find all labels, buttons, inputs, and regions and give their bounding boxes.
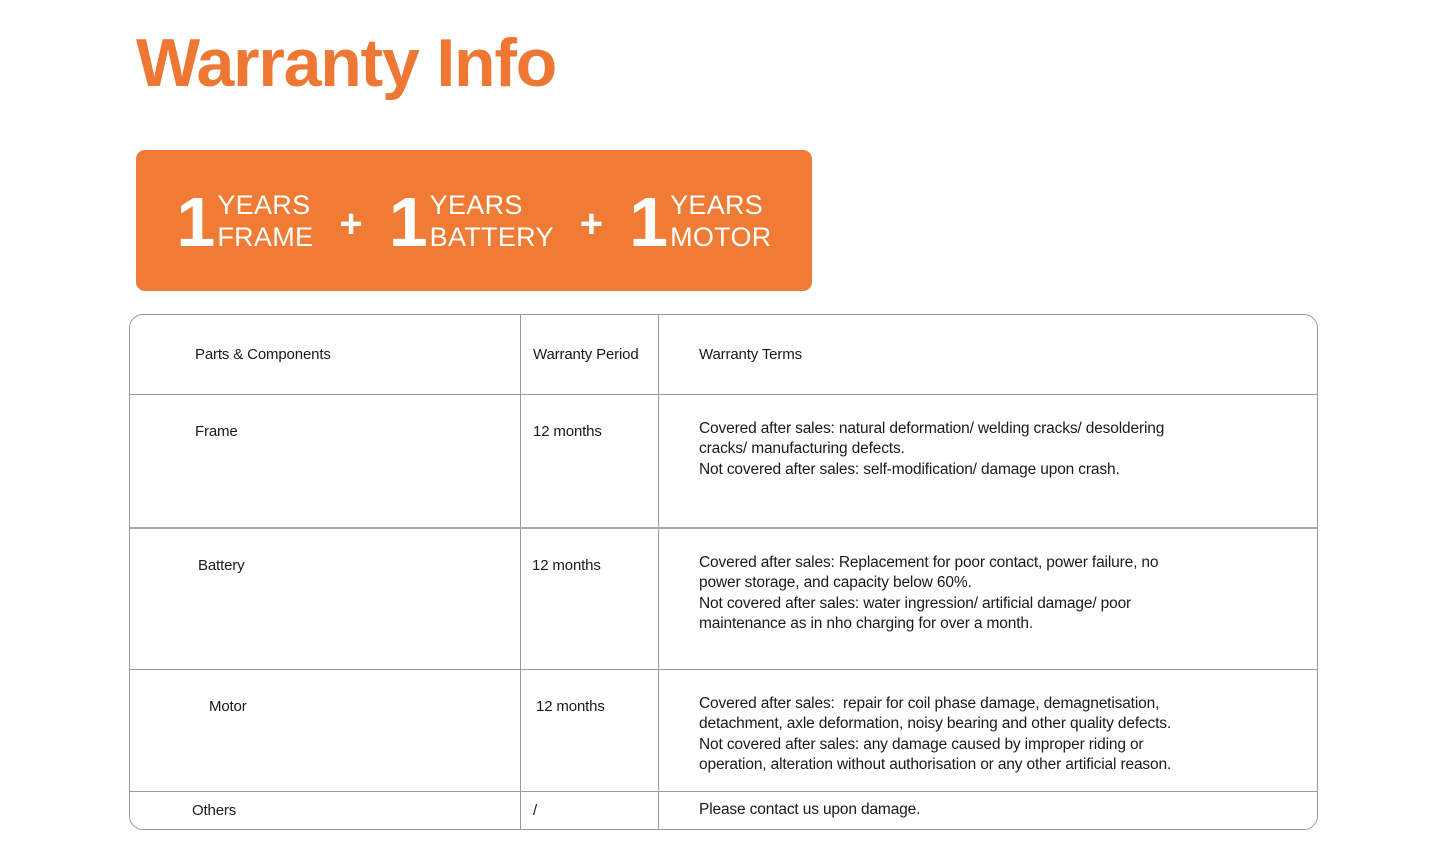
- banner-term-frame: 1 YEARS FRAME: [176, 190, 313, 254]
- banner-term-frame-number: 1: [176, 191, 213, 254]
- header-cell-parts: Parts & Components: [130, 315, 521, 394]
- header-label-parts: Parts & Components: [130, 344, 331, 366]
- terms-line: Covered after sales: natural deformation…: [699, 419, 1164, 439]
- terms-line: Not covered after sales: any damage caus…: [699, 735, 1171, 755]
- part-name-battery: Battery: [198, 529, 244, 669]
- banner-term-frame-unit: YEARS: [217, 190, 313, 222]
- header-cell-terms: Warranty Terms: [659, 315, 1317, 394]
- banner-term-motor-number: 1: [629, 191, 666, 254]
- period-value-battery: 12 months: [532, 529, 601, 669]
- cell-terms-others: Please contact us upon damage.: [659, 792, 1317, 829]
- banner-term-frame-part: FRAME: [217, 222, 313, 254]
- banner-term-battery-part: BATTERY: [430, 222, 554, 254]
- plus-icon-2: +: [580, 204, 603, 244]
- cell-period-frame: 12 months: [521, 395, 659, 527]
- cell-terms-motor: Covered after sales: repair for coil pha…: [659, 670, 1317, 791]
- terms-line: operation, alteration without authorisat…: [699, 755, 1171, 775]
- header-label-terms: Warranty Terms: [659, 344, 802, 366]
- period-value-motor: 12 months: [536, 670, 605, 791]
- terms-line: maintenance as in nho charging for over …: [699, 614, 1158, 634]
- terms-line: detachment, axle deformation, noisy bear…: [699, 714, 1171, 734]
- warranty-info-page: Warranty Info 1 YEARS FRAME + 1 YEARS BA…: [0, 0, 1445, 863]
- table-row-battery: Battery 12 months Covered after sales: R…: [130, 527, 1317, 669]
- banner-term-motor-words: YEARS MOTOR: [670, 190, 772, 254]
- banner-terms-group: 1 YEARS FRAME + 1 YEARS BATTERY + 1 YEAR…: [176, 190, 771, 254]
- table-header-row: Parts & Components Warranty Period Warra…: [130, 315, 1317, 394]
- terms-line: cracks/ manufacturing defects.: [699, 439, 1164, 459]
- warranty-table: Parts & Components Warranty Period Warra…: [129, 314, 1318, 830]
- header-label-period: Warranty Period: [521, 344, 639, 366]
- terms-text-motor: Covered after sales: repair for coil pha…: [699, 670, 1189, 791]
- banner-term-battery-words: YEARS BATTERY: [430, 190, 554, 254]
- banner-term-battery: 1 YEARS BATTERY: [389, 190, 554, 254]
- cell-part-battery: Battery: [130, 529, 521, 669]
- terms-line: power storage, and capacity below 60%.: [699, 573, 1158, 593]
- banner-term-frame-words: YEARS FRAME: [217, 190, 313, 254]
- page-title: Warranty Info: [136, 28, 556, 99]
- period-value-others: /: [533, 800, 537, 822]
- cell-terms-battery: Covered after sales: Replacement for poo…: [659, 529, 1317, 669]
- terms-line: Covered after sales: Replacement for poo…: [699, 553, 1158, 573]
- cell-terms-frame: Covered after sales: natural deformation…: [659, 395, 1317, 527]
- plus-icon-1: +: [339, 204, 362, 244]
- banner-term-motor-part: MOTOR: [670, 222, 772, 254]
- cell-part-others: Others: [130, 792, 521, 829]
- header-cell-period: Warranty Period: [521, 315, 659, 394]
- period-value-frame: 12 months: [533, 395, 602, 527]
- table-row-frame: Frame 12 months Covered after sales: nat…: [130, 394, 1317, 527]
- terms-line: Covered after sales: repair for coil pha…: [699, 694, 1171, 714]
- terms-text-frame: Covered after sales: natural deformation…: [699, 395, 1182, 527]
- banner-term-battery-number: 1: [389, 191, 426, 254]
- terms-text-others: Please contact us upon damage.: [699, 800, 938, 820]
- table-row-motor: Motor 12 months Covered after sales: rep…: [130, 669, 1317, 791]
- cell-period-others: /: [521, 792, 659, 829]
- warranty-summary-banner: 1 YEARS FRAME + 1 YEARS BATTERY + 1 YEAR…: [136, 150, 812, 291]
- terms-line: Not covered after sales: self-modificati…: [699, 460, 1164, 480]
- banner-term-motor: 1 YEARS MOTOR: [629, 190, 771, 254]
- banner-term-motor-unit: YEARS: [670, 190, 772, 222]
- cell-period-battery: 12 months: [521, 529, 659, 669]
- cell-part-motor: Motor: [130, 670, 521, 791]
- part-name-motor: Motor: [209, 670, 247, 791]
- banner-term-battery-unit: YEARS: [430, 190, 554, 222]
- terms-text-battery: Covered after sales: Replacement for poo…: [699, 529, 1176, 669]
- cell-period-motor: 12 months: [521, 670, 659, 791]
- part-name-others: Others: [192, 800, 236, 822]
- table-row-others: Others / Please contact us upon damage.: [130, 791, 1317, 829]
- cell-part-frame: Frame: [130, 395, 521, 527]
- terms-line: Not covered after sales: water ingressio…: [699, 594, 1158, 614]
- part-name-frame: Frame: [195, 395, 238, 527]
